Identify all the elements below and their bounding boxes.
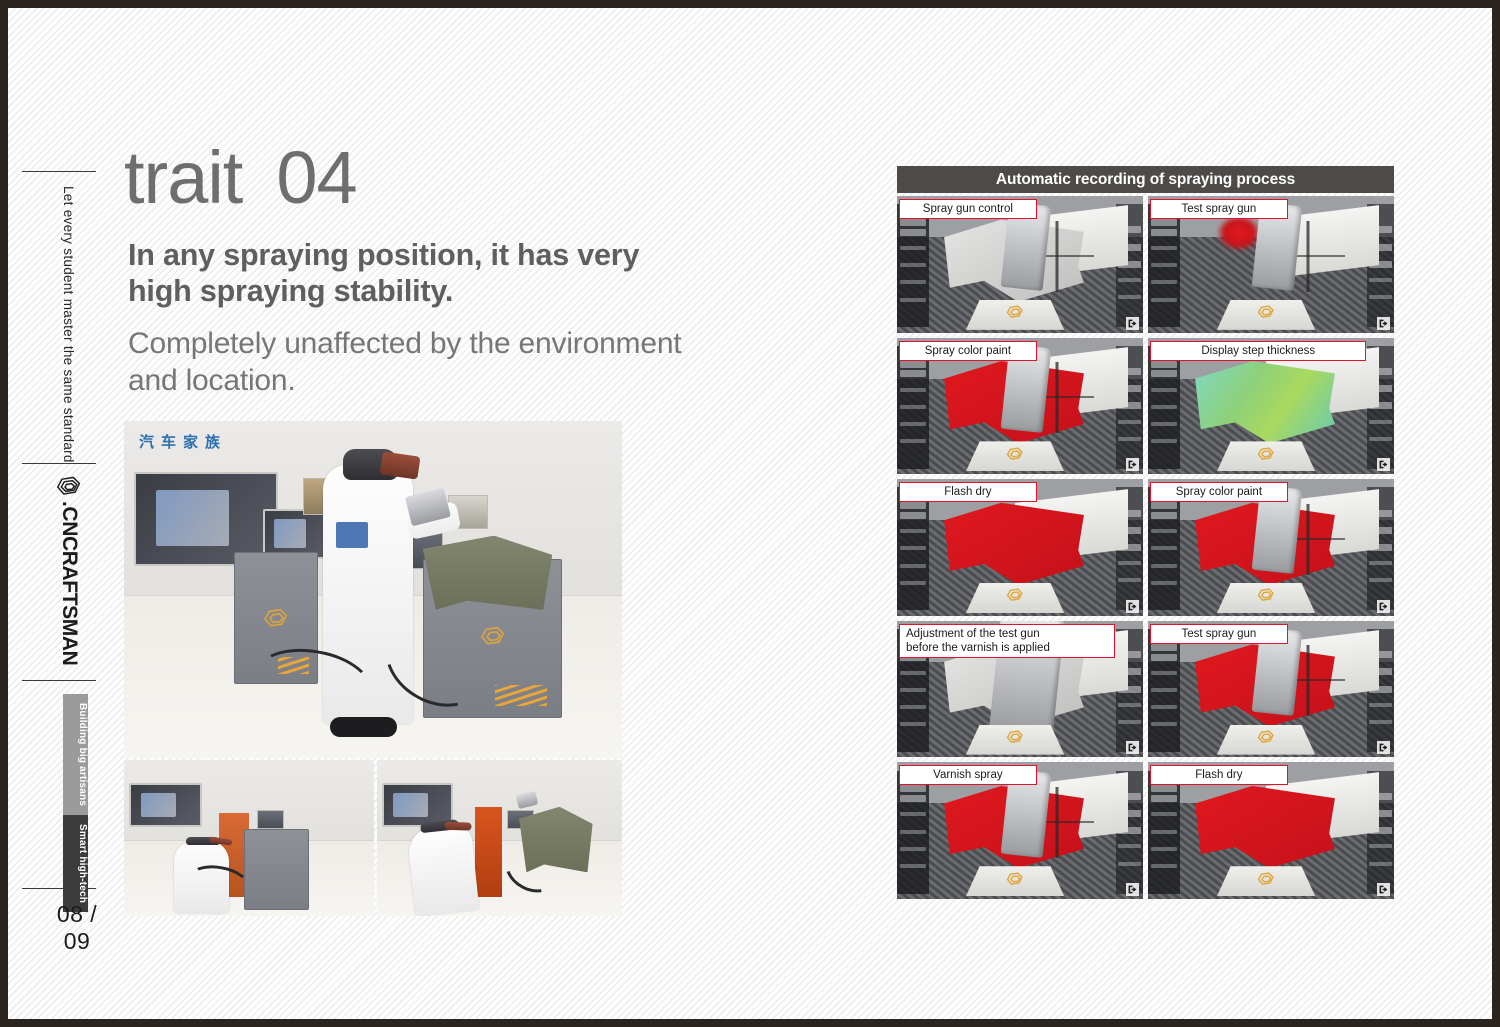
wall-sign-chinese: 汽车家族 bbox=[139, 431, 227, 452]
tile-caption: Spray color paint bbox=[899, 341, 1037, 361]
training-room-scene bbox=[124, 760, 374, 916]
sim-screenshot-tile[interactable]: Display step thickness bbox=[1148, 338, 1394, 475]
cnc-logo-icon bbox=[1257, 588, 1275, 603]
tile-caption: Test spray gun bbox=[1150, 199, 1288, 219]
sim-ui-chip[interactable] bbox=[1118, 720, 1141, 724]
tile-caption: Spray gun control bbox=[899, 199, 1037, 219]
left-sidebar: Let every student master the same standa… bbox=[14, 8, 110, 1019]
sim-ui-chip[interactable] bbox=[1151, 581, 1178, 585]
simulator-cart bbox=[244, 829, 309, 910]
sim-ui-chip[interactable] bbox=[900, 263, 927, 267]
sim-ui-chip[interactable] bbox=[900, 502, 927, 509]
hexagon-swirl-logo-icon bbox=[56, 474, 82, 500]
cnc-logo-icon bbox=[1006, 872, 1024, 887]
turntable-base bbox=[1217, 300, 1315, 330]
sim-ui-chip[interactable] bbox=[900, 229, 927, 236]
sim-ui-chip[interactable] bbox=[1151, 785, 1178, 792]
sim-ui-chip[interactable] bbox=[1118, 703, 1141, 707]
exit-door-icon[interactable] bbox=[1126, 458, 1139, 471]
page-number: 08 / 09 bbox=[54, 901, 100, 955]
turntable-base bbox=[966, 300, 1064, 330]
sim-ui-chip[interactable] bbox=[900, 785, 927, 792]
sim-ui-chip[interactable] bbox=[1151, 795, 1178, 802]
sim-left-toolbar[interactable] bbox=[1148, 204, 1180, 327]
brochure-page: Let every student master the same standa… bbox=[8, 8, 1492, 1019]
trainee-boot bbox=[330, 717, 396, 738]
sim-left-toolbar[interactable] bbox=[897, 487, 929, 610]
sim-ui-chip[interactable] bbox=[1151, 847, 1178, 851]
tile-caption: Test spray gun bbox=[1150, 624, 1288, 644]
sim-ui-chip[interactable] bbox=[900, 705, 927, 709]
exit-door-icon[interactable] bbox=[1377, 883, 1390, 896]
sim-left-toolbar[interactable] bbox=[897, 346, 929, 469]
sim-ui-chip[interactable] bbox=[1369, 720, 1392, 724]
sim-ui-chip[interactable] bbox=[900, 298, 927, 302]
cnc-logo-icon bbox=[1006, 305, 1024, 320]
sim-ui-chip[interactable] bbox=[1118, 578, 1141, 582]
turntable-base bbox=[1217, 583, 1315, 613]
sim-ui-chip[interactable] bbox=[900, 219, 927, 226]
brand-block: .CNCRAFTSMAN bbox=[56, 474, 82, 665]
orange-column bbox=[475, 807, 502, 897]
sim-screenshot-tile[interactable]: Test spray gun bbox=[1148, 196, 1394, 333]
sim-ui-chip[interactable] bbox=[1369, 561, 1392, 565]
exit-door-icon[interactable] bbox=[1126, 883, 1139, 896]
sim-ui-chip[interactable] bbox=[1151, 654, 1178, 661]
trait-word: trait bbox=[124, 136, 242, 219]
cnc-logo-icon bbox=[1257, 872, 1275, 887]
sim-screenshot-tile[interactable]: Spray color paint bbox=[1148, 479, 1394, 616]
sim-ui-chip[interactable] bbox=[1151, 688, 1178, 692]
sim-ui-chip[interactable] bbox=[900, 847, 927, 851]
sidebar-tagline: Let every student master the same standa… bbox=[61, 186, 76, 463]
sim-screenshot-tile[interactable]: Flash dry bbox=[897, 479, 1143, 616]
cnc-logo-icon bbox=[1006, 588, 1024, 603]
cnc-logo-icon bbox=[1257, 447, 1275, 462]
sim-ui-chip[interactable] bbox=[1118, 437, 1141, 441]
sidebar-badges: Building big artisans Smart high-tech bbox=[63, 694, 88, 912]
tile-caption: Display step thickness bbox=[1150, 341, 1366, 361]
sim-ui-chip[interactable] bbox=[1151, 219, 1178, 226]
tile-caption: Flash dry bbox=[899, 482, 1037, 502]
sim-screenshot-tile[interactable]: Spray color paint bbox=[897, 338, 1143, 475]
sim-ui-chip[interactable] bbox=[1151, 502, 1178, 509]
exit-door-icon[interactable] bbox=[1126, 317, 1139, 330]
sim-ui-chip[interactable] bbox=[1151, 671, 1178, 675]
badge-building-big-artisans: Building big artisans bbox=[63, 694, 88, 815]
sim-ui-chip[interactable] bbox=[1369, 862, 1392, 866]
sim-ui-chip[interactable] bbox=[900, 581, 927, 585]
sim-ui-chip[interactable] bbox=[1369, 278, 1392, 282]
sim-ui-chip[interactable] bbox=[900, 795, 927, 802]
sim-ui-chip[interactable] bbox=[900, 422, 927, 426]
sim-ui-chip[interactable] bbox=[900, 546, 927, 550]
brand-name: .CNCRAFTSMAN bbox=[57, 501, 81, 665]
exit-door-icon[interactable] bbox=[1377, 317, 1390, 330]
turntable-base bbox=[966, 725, 1064, 755]
badge-smart-high-tech: Smart high-tech bbox=[63, 815, 88, 912]
turntable-base bbox=[966, 866, 1064, 896]
sidebar-divider-2 bbox=[22, 463, 96, 464]
turntable-base bbox=[1217, 725, 1315, 755]
sim-ui-chip[interactable] bbox=[1151, 370, 1178, 377]
sim-ui-chip[interactable] bbox=[1151, 564, 1178, 568]
sim-ui-chip[interactable] bbox=[900, 280, 927, 284]
module-title: Automatic recording of spraying process bbox=[897, 166, 1394, 193]
training-room-scene: 汽车家族 bbox=[124, 421, 622, 758]
sim-ui-chip[interactable] bbox=[900, 439, 927, 443]
sim-left-toolbar[interactable] bbox=[1148, 629, 1180, 752]
sim-ui-chip[interactable] bbox=[1118, 420, 1141, 424]
trait-number: 04 bbox=[276, 136, 356, 219]
sim-left-toolbar[interactable] bbox=[897, 771, 929, 894]
cnc-logo-icon bbox=[1006, 730, 1024, 745]
sim-ui-chip[interactable] bbox=[900, 370, 927, 377]
sim-ui-chip[interactable] bbox=[1151, 864, 1178, 868]
exit-door-icon[interactable] bbox=[1126, 600, 1139, 613]
sim-left-toolbar[interactable] bbox=[897, 204, 929, 327]
tile-caption: Spray color paint bbox=[1150, 482, 1288, 502]
sim-ui-chip[interactable] bbox=[1151, 280, 1178, 284]
sim-ui-chip[interactable] bbox=[1118, 862, 1141, 866]
sidebar-divider-1 bbox=[22, 171, 96, 172]
sidebar-divider-3 bbox=[22, 680, 96, 681]
sim-ui-chip[interactable] bbox=[1118, 295, 1141, 299]
sim-ui-chip[interactable] bbox=[1151, 644, 1178, 651]
sim-ui-chip[interactable] bbox=[1151, 812, 1178, 816]
sim-ui-chip[interactable] bbox=[1151, 546, 1178, 550]
sim-ui-chip[interactable] bbox=[1151, 722, 1178, 726]
sim-screenshot-tile[interactable]: Varnish spray bbox=[897, 762, 1143, 899]
visor bbox=[445, 821, 472, 830]
sim-screenshot-tile[interactable]: Flash dry bbox=[1148, 762, 1394, 899]
sim-screenshot-tile[interactable]: Spray gun control bbox=[897, 196, 1143, 333]
sim-ui-chip[interactable] bbox=[1118, 561, 1141, 565]
sim-ui-chip[interactable] bbox=[900, 361, 927, 368]
sim-ui-chip[interactable] bbox=[1151, 229, 1178, 236]
sim-screenshot-tile[interactable]: Adjustment of the test gun before the va… bbox=[897, 621, 1143, 758]
tile-caption: Adjustment of the test gun before the va… bbox=[899, 624, 1115, 658]
subheading: In any spraying position, it has very hi… bbox=[128, 238, 698, 310]
sim-ui-chip[interactable] bbox=[1151, 298, 1178, 302]
screenshot-grid: Spray gun controlTest spray gunSpray col… bbox=[897, 196, 1394, 899]
photo-main-spraying: 汽车家族 bbox=[124, 421, 622, 758]
sim-ui-chip[interactable] bbox=[1151, 246, 1178, 250]
sim-ui-chip[interactable] bbox=[1151, 512, 1178, 519]
sim-ui-chip[interactable] bbox=[1151, 529, 1178, 533]
exit-door-icon[interactable] bbox=[1377, 741, 1390, 754]
sim-ui-chip[interactable] bbox=[1118, 844, 1141, 848]
training-room-scene bbox=[377, 760, 622, 916]
sim-ui-chip[interactable] bbox=[1151, 422, 1178, 426]
turntable-base bbox=[966, 583, 1064, 613]
test-spray-blob bbox=[1217, 215, 1261, 251]
sim-ui-chip[interactable] bbox=[900, 830, 927, 834]
suit-logo bbox=[336, 522, 368, 548]
sim-ui-chip[interactable] bbox=[900, 512, 927, 519]
cart-hazard-stripe bbox=[495, 685, 547, 705]
sim-ui-chip[interactable] bbox=[900, 671, 927, 675]
cnc-logo-icon bbox=[1257, 305, 1275, 320]
sim-ui-chip[interactable] bbox=[900, 722, 927, 726]
sim-ui-chip[interactable] bbox=[1151, 439, 1178, 443]
sim-ui-chip[interactable] bbox=[1151, 830, 1178, 834]
exit-door-icon[interactable] bbox=[1377, 600, 1390, 613]
tile-caption: Varnish spray bbox=[899, 765, 1037, 785]
cart-logo-icon bbox=[263, 608, 289, 630]
photo-bottom-right bbox=[377, 760, 622, 916]
sim-screenshot-tile[interactable]: Test spray gun bbox=[1148, 621, 1394, 758]
sim-ui-chip[interactable] bbox=[900, 246, 927, 250]
sim-ui-chip[interactable] bbox=[1369, 844, 1392, 848]
sim-ui-chip[interactable] bbox=[1151, 263, 1178, 267]
trainee-figure bbox=[407, 822, 479, 916]
sim-ui-chip[interactable] bbox=[1369, 420, 1392, 424]
sim-ui-chip[interactable] bbox=[1369, 703, 1392, 707]
page-title: trait04 bbox=[124, 141, 357, 215]
sim-ui-chip[interactable] bbox=[1118, 278, 1141, 282]
sim-left-toolbar[interactable] bbox=[1148, 346, 1180, 469]
sim-ui-chip[interactable] bbox=[900, 864, 927, 868]
spraying-process-module: Automatic recording of spraying process … bbox=[897, 166, 1394, 899]
sim-ui-chip[interactable] bbox=[900, 812, 927, 816]
exit-door-icon[interactable] bbox=[1126, 741, 1139, 754]
sim-ui-chip[interactable] bbox=[1369, 295, 1392, 299]
sim-ui-chip[interactable] bbox=[1151, 361, 1178, 368]
turntable-base bbox=[1217, 441, 1315, 471]
sim-left-toolbar[interactable] bbox=[1148, 487, 1180, 610]
photo-bottom-left bbox=[124, 760, 374, 916]
sim-ui-chip[interactable] bbox=[900, 388, 927, 392]
body-copy: Completely unaffected by the environment… bbox=[128, 326, 688, 399]
sim-ui-chip[interactable] bbox=[900, 564, 927, 568]
wall-info-board bbox=[257, 810, 285, 829]
sim-ui-chip[interactable] bbox=[1369, 578, 1392, 582]
turntable-base bbox=[1217, 866, 1315, 896]
sim-left-toolbar[interactable] bbox=[1148, 771, 1180, 894]
sim-ui-chip[interactable] bbox=[1151, 388, 1178, 392]
tile-caption: Flash dry bbox=[1150, 765, 1288, 785]
sim-ui-chip[interactable] bbox=[1369, 437, 1392, 441]
sim-ui-chip[interactable] bbox=[900, 688, 927, 692]
cnc-logo-icon bbox=[1257, 730, 1275, 745]
sim-ui-chip[interactable] bbox=[900, 529, 927, 533]
exit-door-icon[interactable] bbox=[1377, 458, 1390, 471]
sim-ui-chip[interactable] bbox=[900, 405, 927, 409]
turntable-base bbox=[966, 441, 1064, 471]
wall-display-large bbox=[129, 783, 202, 827]
sim-ui-chip[interactable] bbox=[1151, 405, 1178, 409]
cnc-logo-icon bbox=[1006, 447, 1024, 462]
sim-ui-chip[interactable] bbox=[1151, 705, 1178, 709]
